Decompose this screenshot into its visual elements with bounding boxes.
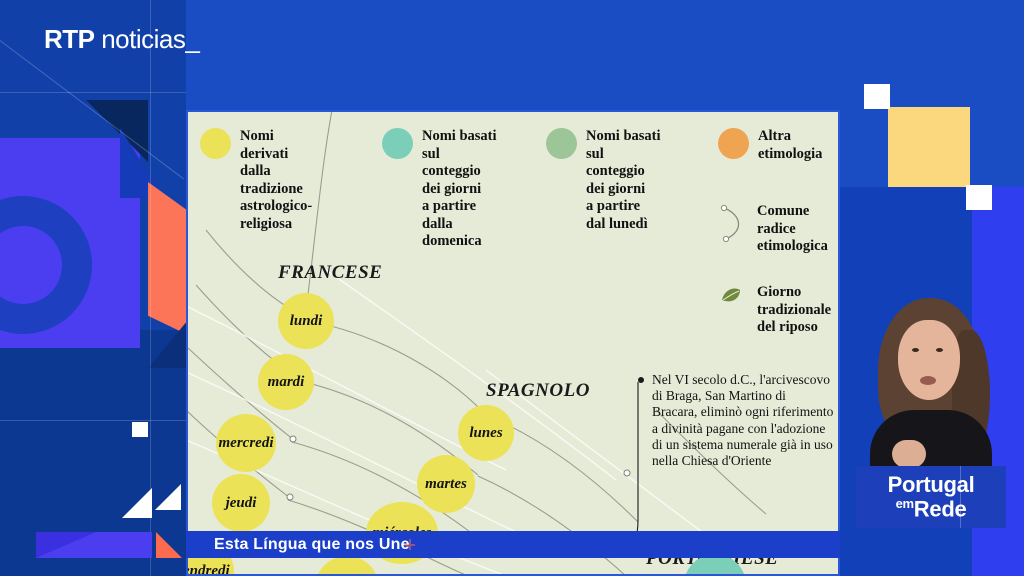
day-node-label: martes xyxy=(425,476,467,493)
day-node-label: vendredi xyxy=(186,563,230,576)
badge-divider xyxy=(960,466,961,528)
day-node-lunes[interactable]: lunes xyxy=(458,405,514,461)
legend-label: Altra etimologia xyxy=(758,128,822,163)
badge-line2-big: Rede xyxy=(914,496,967,521)
legend-item-common-root: Comune radice etimologica xyxy=(718,203,840,256)
legend-item-from-monday: Nomi basati sul conteggio dei giorni a p… xyxy=(546,128,666,233)
interpreter-face xyxy=(898,320,960,400)
interpreter-eye xyxy=(936,348,943,352)
legend-label: Nomi basati sul conteggio dei giorni a p… xyxy=(586,128,666,233)
annotation-callout: Nel VI secolo d.C., l'arcivescovo di Bra… xyxy=(638,372,834,469)
legend-label: Nomi derivati dalla tradizione astrologi… xyxy=(240,128,325,233)
interpreter-hand-pointing xyxy=(892,440,926,468)
white-square xyxy=(864,84,890,109)
blue-triangle-icon xyxy=(120,128,164,198)
leaf-icon xyxy=(718,284,748,306)
legend-swatch-green-icon xyxy=(546,128,577,159)
legend-item-from-sunday: Nomi basati sul conteggio dei giorni a p… xyxy=(382,128,502,251)
day-node-mercredi[interactable]: mercredi xyxy=(216,414,276,472)
legend-item-rest-day: Giorno tradizionale del riposo xyxy=(718,284,840,337)
lower-third-title: Esta Língua que nos Une xyxy=(214,536,410,554)
legend-label: Comune radice etimologica xyxy=(757,203,828,256)
logo-bold: RTP xyxy=(44,24,95,54)
day-node-martes[interactable]: martes xyxy=(417,455,475,513)
hairline xyxy=(0,92,186,93)
legend-swatch-orange-icon xyxy=(718,128,749,159)
interpreter-mouth xyxy=(920,376,936,385)
lower-third-banner: Esta Língua que nos Une xyxy=(186,531,840,558)
cream-square xyxy=(888,107,970,187)
interpreter-eye xyxy=(912,348,919,352)
day-node-lundi[interactable]: lundi xyxy=(278,293,334,349)
day-node-label: lundi xyxy=(290,313,323,330)
legend-swatch-teal-icon xyxy=(382,128,413,159)
day-node-jeudi[interactable]: jeudi xyxy=(212,474,270,532)
language-title-francese: FRANCESE xyxy=(278,262,382,284)
legend-label: Nomi basati sul conteggio dei giorni a p… xyxy=(422,128,502,251)
day-node-label: mercredi xyxy=(219,435,274,452)
legend-swatch-yellow-icon xyxy=(200,128,231,159)
plus-icon xyxy=(404,539,415,550)
arc-connector-icon xyxy=(718,203,748,243)
badge-line1: Portugal xyxy=(888,474,975,496)
white-square xyxy=(132,422,148,437)
annotation-text: Nel VI secolo d.C., l'arcivescovo di Bra… xyxy=(652,372,834,469)
legend-item-astrological: Nomi derivati dalla tradizione astrologi… xyxy=(200,128,325,233)
channel-logo: RTP noticias_ xyxy=(44,24,199,55)
legend-label: Giorno tradizionale del riposo xyxy=(757,284,831,337)
badge-line2: emRede xyxy=(896,497,967,520)
legend-item-other-etymology: Altra etimologia xyxy=(718,128,838,163)
logo-thin: noticias_ xyxy=(95,24,200,54)
badge-line2-small: em xyxy=(896,496,914,511)
day-node-label: mardi xyxy=(268,374,305,391)
day-node-label: jeudi xyxy=(226,495,257,512)
white-square xyxy=(966,185,992,210)
language-title-spagnolo: SPAGNOLO xyxy=(486,380,590,402)
program-badge: Portugal emRede xyxy=(856,466,1006,528)
hairline xyxy=(0,420,186,421)
day-node-mardi[interactable]: mardi xyxy=(258,354,314,410)
day-node-label: lunes xyxy=(469,425,502,442)
infographic-panel: Nomi derivati dalla tradizione astrologi… xyxy=(186,110,840,576)
